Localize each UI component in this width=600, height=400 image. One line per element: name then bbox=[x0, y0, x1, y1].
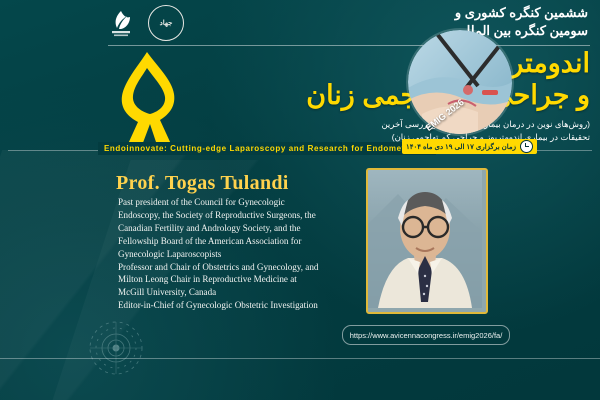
speaker-bio-line: Endoscopy, the Society of Reproductive S… bbox=[118, 209, 362, 222]
jahad-daneshgahi-logo-icon: جهاد bbox=[148, 5, 184, 41]
event-date-chip: زمان برگزاری ۱۷ الی ۱۹ دی ماه ۱۴۰۴ bbox=[402, 139, 537, 154]
speaker-bio-line: Past president of the Council for Gyneco… bbox=[118, 196, 362, 209]
congress-line-2: سومین کنگره بین المللی bbox=[258, 22, 588, 40]
speaker-bio-line: Editor-in-Chief of Gynecologic Obstetric… bbox=[118, 299, 362, 312]
poster-footer: 6 Endoinnovate Cutting-edge Laparoscopy … bbox=[0, 359, 600, 400]
speaker-name: Prof. Togas Tulandi bbox=[116, 172, 289, 195]
speaker-bio-line: Fellowship Board of the American Associa… bbox=[118, 235, 362, 248]
header-divider bbox=[108, 45, 590, 46]
poster-header: جهاد ششمین کنگره کشوری و سومین کنگره بین… bbox=[0, 0, 600, 46]
speaker-bio: Past president of the Council for Gyneco… bbox=[118, 196, 362, 312]
title-subline-1: (روش‌های نوین در درمان بیماری اندومتریوز… bbox=[170, 118, 590, 132]
speaker-bio-line: Professor and Chair of Obstetrics and Gy… bbox=[118, 261, 362, 274]
speaker-portrait bbox=[366, 168, 488, 314]
title-line-2: و جراحی کم تهاجمی زنان bbox=[170, 80, 590, 112]
conference-poster: جهاد ششمین کنگره کشوری و سومین کنگره بین… bbox=[0, 0, 600, 400]
jahad-logo-label: جهاد bbox=[160, 20, 173, 27]
organizer-logos: جهاد bbox=[104, 5, 184, 41]
title-line-1: اندومتریوز bbox=[170, 48, 590, 80]
speaker-bio-line: Gynecologic Laparoscopists bbox=[118, 248, 362, 261]
congress-edition-text: ششمین کنگره کشوری و سومین کنگره بین المل… bbox=[258, 4, 588, 39]
laparoscopy-photo bbox=[408, 30, 512, 134]
event-date-text: زمان برگزاری ۱۷ الی ۱۹ دی ماه ۱۴۰۴ bbox=[406, 143, 516, 151]
congress-url-text: https://www.avicennacongress.ir/emig2026… bbox=[350, 331, 503, 340]
avicenna-leaf-logo-icon bbox=[104, 6, 138, 40]
speaker-bio-line: Milton Leong Chair in Reproductive Medic… bbox=[118, 273, 362, 286]
speaker-bio-line: McGill University, Canada bbox=[118, 286, 362, 299]
clock-icon bbox=[520, 140, 533, 153]
speaker-bio-line: Canadian Fertility and Andrology Society… bbox=[118, 222, 362, 235]
english-tagline: Endoinnovate: Cutting-edge Laparoscopy a… bbox=[98, 142, 436, 155]
congress-url-box[interactable]: https://www.avicennacongress.ir/emig2026… bbox=[342, 325, 510, 345]
congress-line-1: ششمین کنگره کشوری و bbox=[258, 4, 588, 22]
poster-title: اندومتریوز و جراحی کم تهاجمی زنان (روش‌ه… bbox=[170, 48, 590, 145]
